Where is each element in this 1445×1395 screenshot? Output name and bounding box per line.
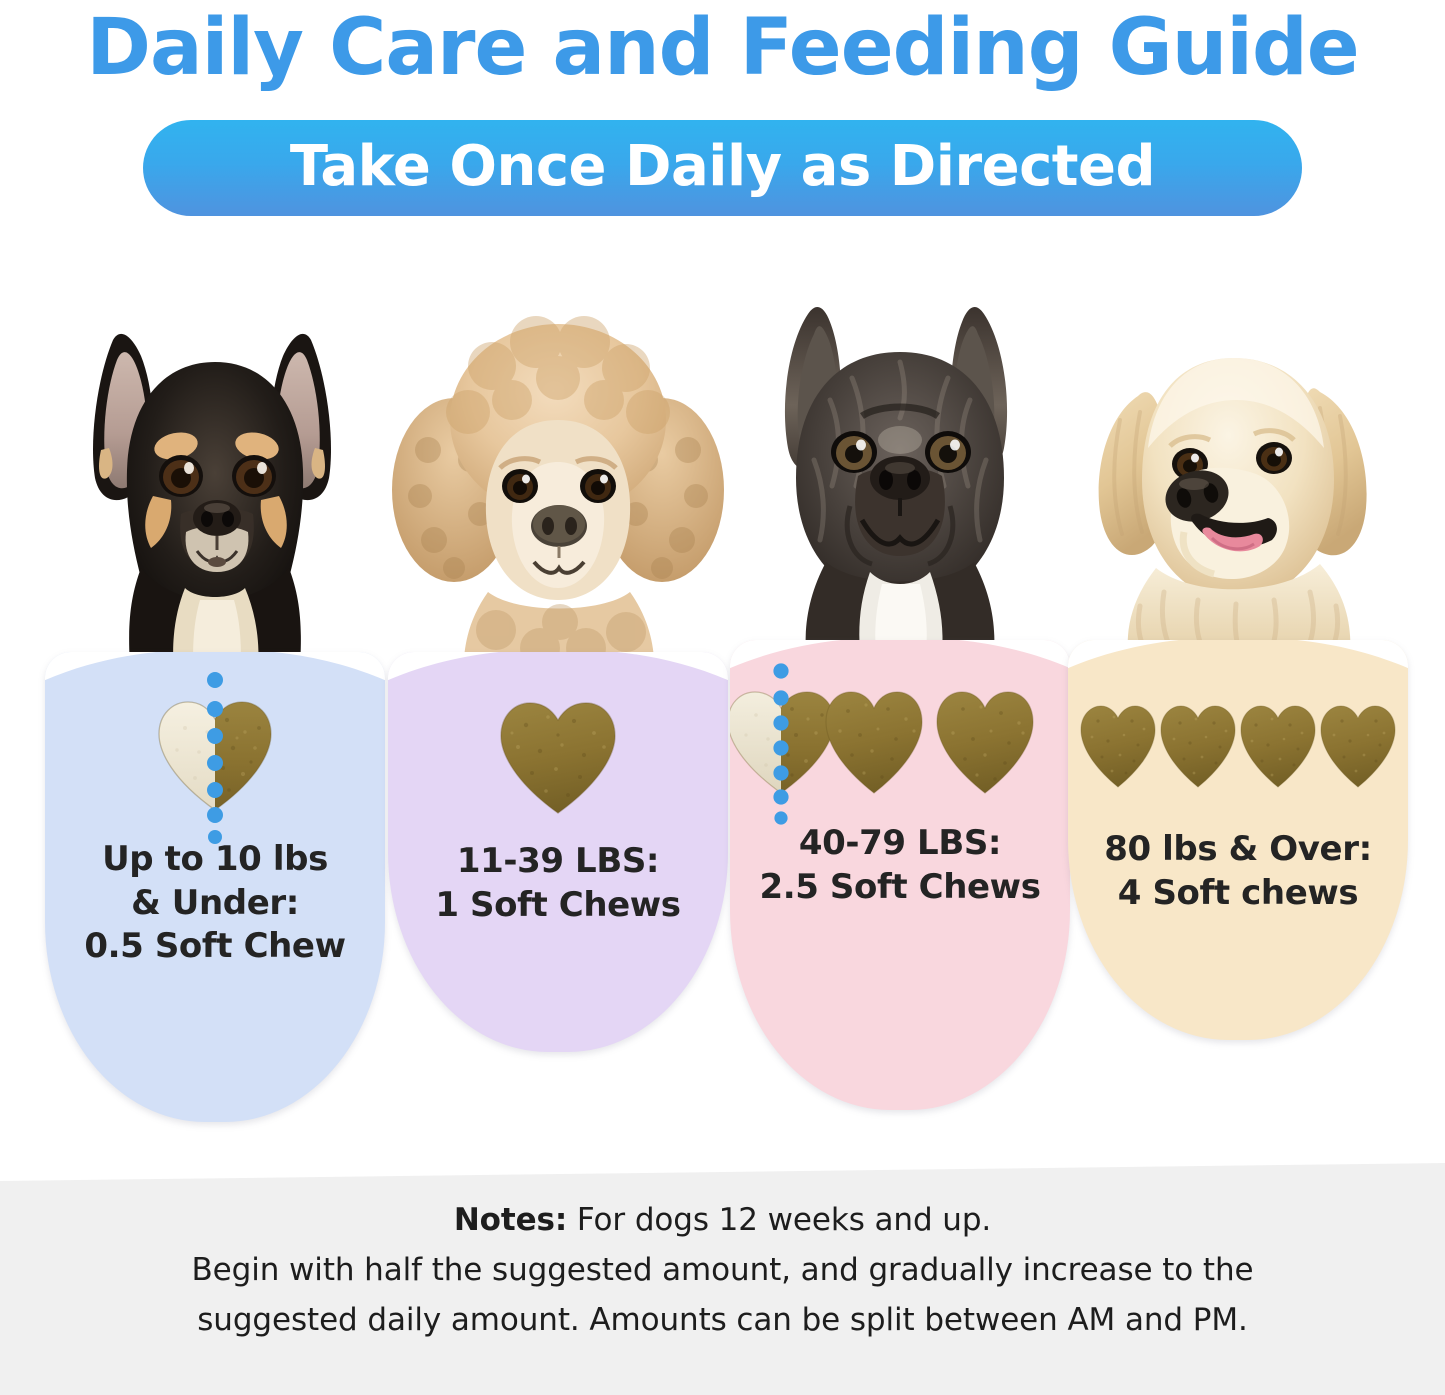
cut-line-dots [205,672,225,844]
dosage-card-blue: Up to 10 lbs & Under: 0.5 Soft Chew [45,652,385,1122]
dosage-card-pink: 40-79 LBS: 2.5 Soft Chews [730,640,1070,1110]
header: Daily Care and Feeding Guide Take Once D… [0,0,1445,230]
dosage-panel-11-39-lbs[interactable]: 11-39 LBS: 1 Soft Chews [388,300,728,1180]
notes-line-3: suggested daily amount. Amounts can be s… [0,1295,1445,1345]
chihuahua-photo [45,300,385,680]
dosage-card-cream: 80 lbs & Over: 4 Soft chews [1068,640,1408,1040]
dosage-label: 40-79 LBS: 2.5 Soft Chews [730,822,1070,909]
notes-line-1: Notes: For dogs 12 weeks and up. [0,1195,1445,1245]
chew-half-chew [155,698,275,816]
dosage-label: Up to 10 lbs & Under: 0.5 Soft Chew [45,838,385,969]
dosage-panel-up-to-10-lbs[interactable]: Up to 10 lbs & Under: 0.5 Soft Chew [45,300,385,1180]
chew-half-chew [744,689,818,797]
poodle-photo [388,300,728,680]
chew-whole-chew [1318,703,1398,791]
cut-line-dots [772,663,790,825]
chew-whole-chew [1158,703,1238,791]
notes-label: Notes: [454,1202,567,1238]
golden-retriever-photo [1068,300,1408,652]
dosage-card-purple: 11-39 LBS: 1 Soft Chews [388,652,728,1052]
dosage-panel-80-lbs-and-over[interactable]: 80 lbs & Over: 4 Soft chews [1068,300,1408,1180]
subtitle-text: Take Once Daily as Directed [290,134,1155,199]
notes-band: Notes: For dogs 12 weeks and up. Begin w… [0,1163,1445,1395]
notes-line-1-rest: For dogs 12 weeks and up. [567,1202,991,1238]
dosage-panels: Up to 10 lbs & Under: 0.5 Soft Chew [0,300,1445,1180]
notes-content: Notes: For dogs 12 weeks and up. Begin w… [0,1195,1445,1346]
dosage-panel-40-79-lbs[interactable]: 40-79 LBS: 2.5 Soft Chews [730,300,1070,1180]
chew-row [388,694,728,824]
page-title: Daily Care and Feeding Guide [0,8,1445,90]
french-bulldog-photo [730,300,1070,652]
dosage-label: 11-39 LBS: 1 Soft Chews [388,840,728,927]
chew-whole-chew [822,689,927,797]
notes-line-2: Begin with half the suggested amount, an… [0,1245,1445,1295]
chew-whole-chew [1078,703,1158,791]
subtitle-pill: Take Once Daily as Directed [143,120,1302,216]
chew-row [730,678,1070,808]
chew-whole-chew [1238,703,1318,791]
chew-row [1068,682,1408,812]
chew-row [45,692,385,822]
dosage-label: 80 lbs & Over: 4 Soft chews [1068,828,1408,915]
chew-whole-chew [496,699,620,819]
chew-whole-chew [933,689,1038,797]
